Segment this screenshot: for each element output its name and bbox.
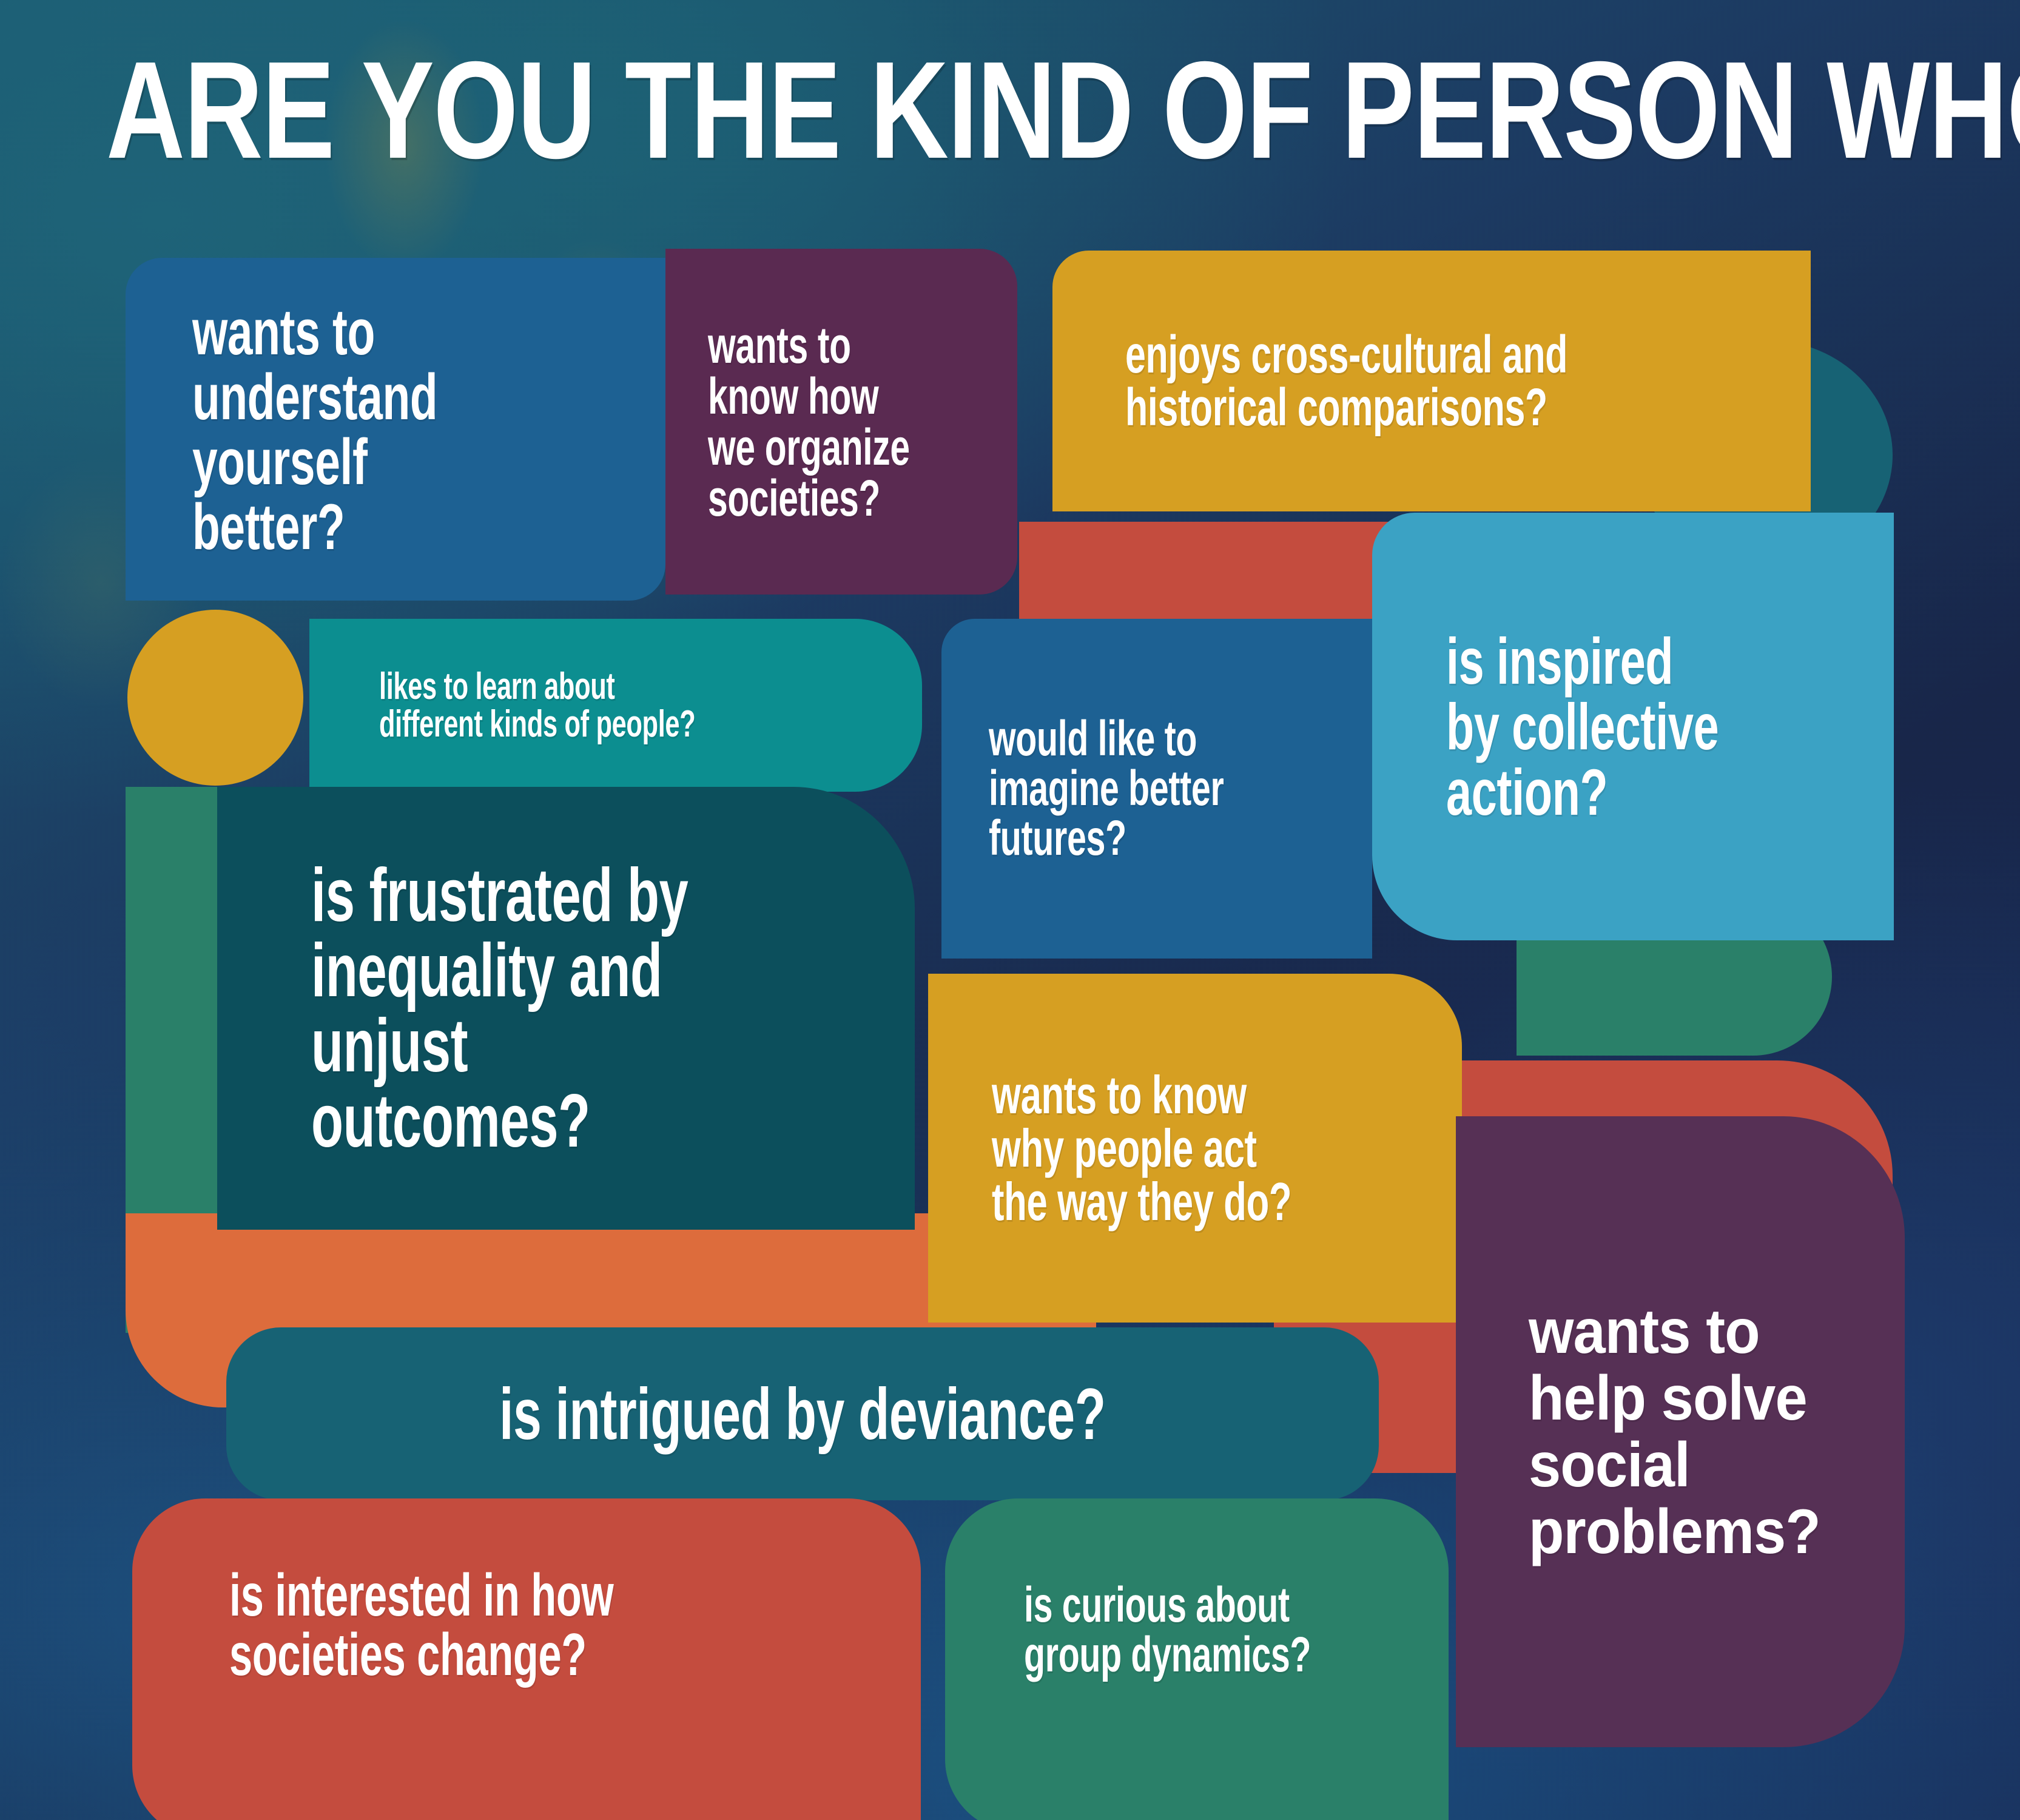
prompt-card-different-kinds-people[interactable]: likes to learn about different kinds of … [309, 619, 922, 792]
prompt-card-understand-yourself[interactable]: wants to understand yourself better? [126, 258, 665, 601]
prompt-card-imagine-better-futures[interactable]: would like to imagine better futures? [941, 619, 1372, 959]
poster-canvas: ARE YOU THE KIND OF PERSON WHO ... wants… [0, 0, 2020, 1820]
prompt-card-inequality-unjust[interactable]: is frustrated by inequality and unjust o… [217, 787, 915, 1230]
prompt-text: wants to know how we organize societies? [708, 320, 910, 524]
prompt-text: is inspired by collective action? [1446, 629, 1719, 825]
prompt-card-help-solve-social[interactable]: wants to help solve social problems? [1456, 1116, 1905, 1747]
page-title: ARE YOU THE KIND OF PERSON WHO ... [106, 49, 2020, 173]
prompt-text: wants to understand yourself better? [192, 300, 524, 559]
prompt-card-collective-action[interactable]: is inspired by collective action? [1372, 513, 1894, 940]
prompt-card-organize-societies[interactable]: wants to know how we organize societies? [665, 249, 1017, 595]
prompt-card-why-people-act[interactable]: wants to know why people act the way the… [928, 974, 1462, 1323]
prompt-text: wants to help solve social problems? [1529, 1298, 1820, 1566]
prompt-card-societies-change[interactable]: is interested in how societies change? [132, 1498, 921, 1820]
prompt-text: enjoys cross-cultural and historical com… [1125, 328, 1567, 434]
prompt-text: is curious about group dynamics? [1024, 1580, 1311, 1680]
prompt-text: would like to imagine better futures? [989, 714, 1224, 863]
prompt-text: wants to know why people act the way the… [992, 1068, 1291, 1228]
prompt-text: is frustrated by inequality and unjust o… [311, 858, 734, 1159]
prompt-card-group-dynamics[interactable]: is curious about group dynamics? [945, 1498, 1449, 1820]
prompt-text: is interested in how societies change? [229, 1565, 613, 1684]
prompt-text: likes to learn about different kinds of … [379, 668, 695, 743]
prompt-card-intrigued-deviance[interactable]: is intrigued by deviance? [226, 1327, 1379, 1500]
prompt-text: is intrigued by deviance? [499, 1378, 1106, 1451]
prompt-card-cross-cultural[interactable]: enjoys cross-cultural and historical com… [1052, 251, 1811, 511]
gold-circle [127, 610, 303, 786]
